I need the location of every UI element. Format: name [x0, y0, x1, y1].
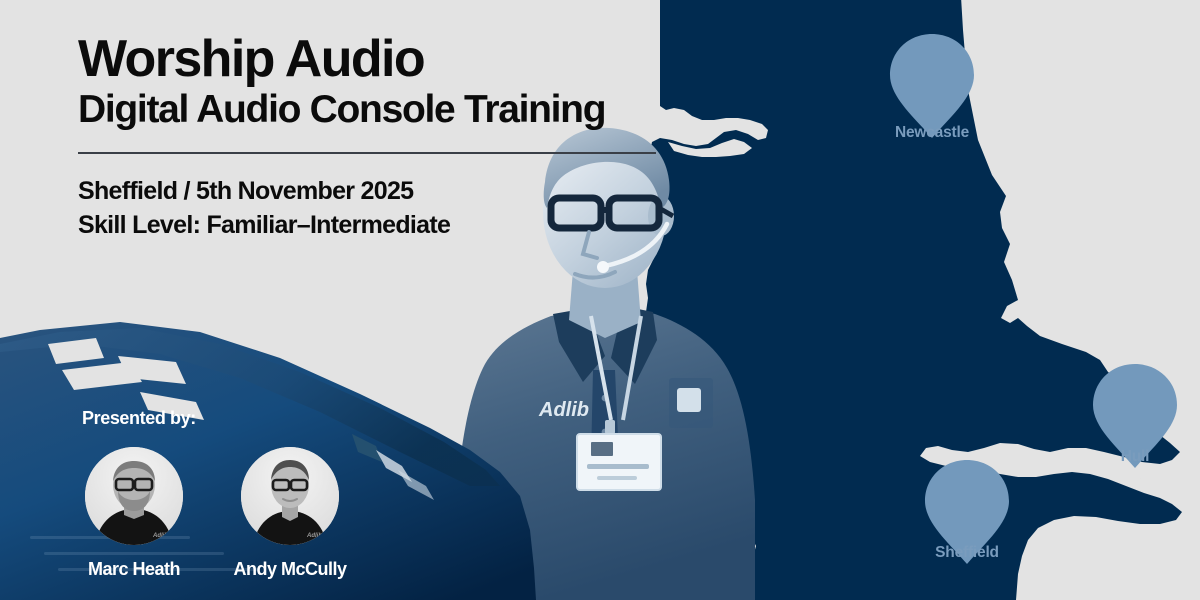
headline-divider: [78, 152, 656, 154]
speaker-logo-patch: [677, 388, 701, 412]
avatar-a-shirt-brand: Adlib: [152, 533, 168, 539]
speaker-badge: [577, 434, 661, 490]
presenter-andy-mccully: Adlib Andy McCully: [238, 447, 342, 580]
map-pin-label-sheffield: Sheffield: [935, 544, 999, 561]
event-poster: Newcastle Hull Sheffield: [0, 0, 1200, 600]
presented-by-label: Presented by:: [82, 408, 342, 429]
avatar-b-shirt-brand: Adlib: [306, 533, 322, 539]
presenter-row: Adlib Marc Heath: [82, 447, 342, 580]
map-pin-sheffield[interactable]: Sheffield: [925, 460, 1009, 564]
page-subtitle: Digital Audio Console Training: [78, 88, 678, 132]
event-location-date: Sheffield / 5th November 2025: [78, 175, 678, 208]
presenter-name: Marc Heath: [88, 559, 180, 580]
map-pin-label-hull: Hull: [1121, 448, 1149, 465]
avatar-andy-mccully: Adlib: [241, 447, 339, 545]
headline-block: Worship Audio Digital Audio Console Trai…: [78, 32, 678, 242]
page-title: Worship Audio: [78, 32, 678, 86]
map-pin-label-newcastle: Newcastle: [895, 124, 970, 141]
presenters-block: Presented by:: [82, 408, 342, 580]
event-skill-level: Skill Level: Familiar–Intermediate: [78, 209, 678, 242]
presenter-marc-heath: Adlib Marc Heath: [82, 447, 186, 580]
presenter-name: Andy McCully: [234, 559, 347, 580]
map-pin-newcastle[interactable]: Newcastle: [890, 34, 974, 141]
avatar-marc-heath: Adlib: [85, 447, 183, 545]
